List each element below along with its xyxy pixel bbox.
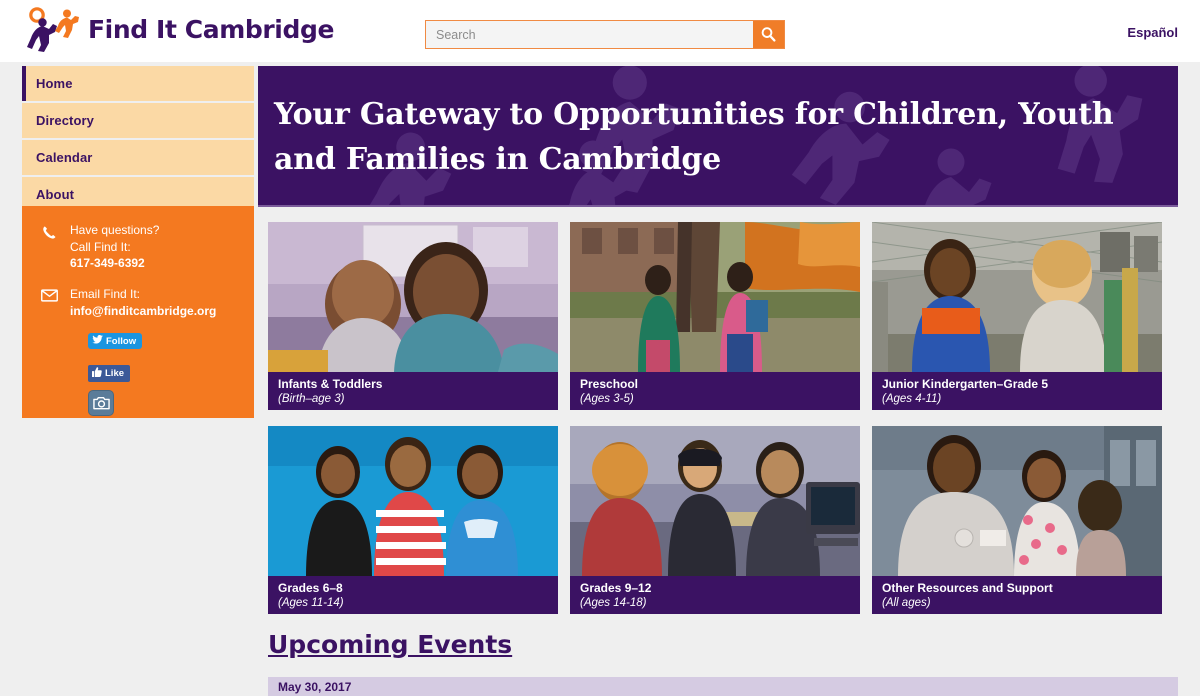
card-caption: Grades 9–12 (Ages 14-18) <box>570 576 860 614</box>
card-title: Other Resources and Support <box>882 581 1162 596</box>
sidebar-item-calendar[interactable]: Calendar <box>22 140 254 175</box>
card-caption: Preschool (Ages 3-5) <box>570 372 860 410</box>
sidebar-item-directory[interactable]: Directory <box>22 103 254 138</box>
sidebar-nav: Home Directory Calendar About <box>22 66 254 214</box>
card-title: Infants & Toddlers <box>278 377 558 392</box>
card-subtitle: (Birth–age 3) <box>278 392 558 407</box>
card-caption: Junior Kindergarten–Grade 5 (Ages 4-11) <box>872 372 1162 410</box>
facebook-like-label: Like <box>105 368 124 379</box>
man-holding-child-photo <box>872 426 1162 576</box>
category-card-grades-6-8[interactable]: Grades 6–8 (Ages 11-14) <box>268 426 558 614</box>
hero-bottom-rule <box>258 205 1178 207</box>
instagram-link[interactable] <box>88 390 114 416</box>
email-contact-block: Email Find It: info@finditcambridge.org <box>38 286 216 319</box>
search-input[interactable] <box>426 21 753 48</box>
phone-contact-text: Have questions? Call Find It: 617-349-63… <box>70 222 159 272</box>
search-icon <box>760 26 777 43</box>
three-teen-girls-photo <box>268 426 558 576</box>
card-title: Grades 9–12 <box>580 581 860 596</box>
instagram-camera-icon <box>88 390 114 416</box>
phone-icon <box>38 222 60 272</box>
two-figures-logo-icon <box>22 5 82 53</box>
site-logo[interactable]: Find It Cambridge <box>22 5 334 53</box>
email-address[interactable]: info@finditcambridge.org <box>70 303 216 320</box>
category-card-infants-toddlers[interactable]: Infants & Toddlers (Birth–age 3) <box>268 222 558 410</box>
card-subtitle: (Ages 4-11) <box>882 392 1162 407</box>
twitter-follow-label: Follow <box>106 336 136 347</box>
card-title: Preschool <box>580 377 860 392</box>
hero-banner: Your Gateway to Opportunities for Childr… <box>258 66 1178 205</box>
category-card-other-resources[interactable]: Other Resources and Support (All ages) <box>872 426 1162 614</box>
category-card-junior-k-grade5[interactable]: Junior Kindergarten–Grade 5 (Ages 4-11) <box>872 222 1162 410</box>
category-card-grades-9-12[interactable]: Grades 9–12 (Ages 14-18) <box>570 426 860 614</box>
upcoming-events-heading[interactable]: Upcoming Events <box>268 630 512 659</box>
phone-contact-block: Have questions? Call Find It: 617-349-63… <box>38 222 159 272</box>
sidebar-item-label: Calendar <box>36 150 92 165</box>
sidebar-item-label: About <box>36 187 74 202</box>
site-logo-text: Find It Cambridge <box>88 15 334 44</box>
hero-headline: Your Gateway to Opportunities for Childr… <box>258 66 1134 182</box>
card-caption: Infants & Toddlers (Birth–age 3) <box>268 372 558 410</box>
twitter-follow-button[interactable]: Follow <box>88 331 142 349</box>
phone-number[interactable]: 617-349-6392 <box>70 255 159 272</box>
sidebar-item-label: Home <box>36 76 73 91</box>
email-label: Email Find It: <box>70 286 216 303</box>
search-button[interactable] <box>753 21 784 48</box>
category-card-preschool[interactable]: Preschool (Ages 3-5) <box>570 222 860 410</box>
facebook-like-button[interactable]: Like <box>88 364 130 382</box>
phone-line-2: Call Find It: <box>70 239 159 256</box>
event-date: May 30, 2017 <box>268 677 1178 694</box>
card-subtitle: (Ages 14-18) <box>580 596 860 611</box>
sidebar-item-home[interactable]: Home <box>22 66 254 101</box>
card-caption: Grades 6–8 (Ages 11-14) <box>268 576 558 614</box>
two-children-by-tree-photo <box>570 222 860 372</box>
card-title: Grades 6–8 <box>278 581 558 596</box>
language-toggle-link[interactable]: Español <box>1127 25 1178 40</box>
card-subtitle: (All ages) <box>882 596 1162 611</box>
email-contact-text: Email Find It: info@finditcambridge.org <box>70 286 216 319</box>
event-date-bar: May 30, 2017 <box>268 677 1178 696</box>
card-title: Junior Kindergarten–Grade 5 <box>882 377 1162 392</box>
card-subtitle: (Ages 11-14) <box>278 596 558 611</box>
thumbs-up-icon <box>92 367 102 380</box>
page-root: Find It Cambridge Español Home Directory <box>0 0 1200 696</box>
envelope-icon <box>38 286 60 319</box>
contact-panel: Have questions? Call Find It: 617-349-63… <box>22 206 254 418</box>
twitter-bird-icon <box>92 335 103 347</box>
search-bar[interactable] <box>425 20 785 49</box>
teens-at-computers-photo <box>570 426 860 576</box>
site-header: Find It Cambridge Español <box>0 0 1200 62</box>
sidebar-item-label: Directory <box>36 113 94 128</box>
two-boys-at-playground-photo <box>872 222 1162 372</box>
woman-holding-infant-photo <box>268 222 558 372</box>
card-caption: Other Resources and Support (All ages) <box>872 576 1162 614</box>
card-subtitle: (Ages 3-5) <box>580 392 860 407</box>
phone-line-1: Have questions? <box>70 222 159 239</box>
